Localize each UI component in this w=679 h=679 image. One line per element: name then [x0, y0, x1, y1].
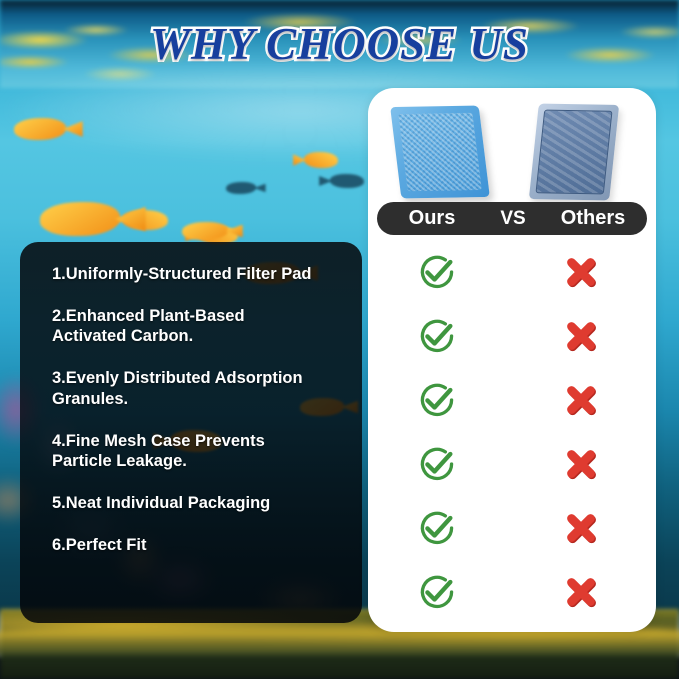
fish-icon — [330, 174, 364, 188]
comparison-row — [368, 304, 656, 368]
fish-icon — [226, 182, 256, 194]
feature-item: 5.Neat Individual Packaging — [52, 493, 346, 513]
feature-item: 6.Perfect Fit — [52, 535, 346, 555]
feature-item: 2.Enhanced Plant-Based Activated Carbon. — [52, 306, 267, 346]
feature-item: 1.Uniformly-Structured Filter Pad — [52, 264, 346, 284]
comparison-rows — [368, 240, 656, 624]
comparison-row — [368, 432, 656, 496]
title-banner: WHY CHOOSE US — [0, 0, 679, 88]
ours-cell — [368, 572, 506, 612]
comparison-row — [368, 560, 656, 624]
cross-icon — [562, 317, 600, 355]
comparison-row — [368, 496, 656, 560]
comparison-row — [368, 240, 656, 304]
feature-item: 4.Fine Mesh Case Prevents Particle Leaka… — [52, 431, 284, 471]
cross-icon — [562, 573, 600, 611]
cross-icon — [562, 381, 600, 419]
others-cell — [506, 317, 656, 355]
product-images — [368, 100, 656, 208]
cross-icon — [562, 253, 600, 291]
ours-cell — [368, 380, 506, 420]
ours-cell — [368, 508, 506, 548]
header-label-others: Others — [539, 207, 647, 230]
others-cell — [506, 573, 656, 611]
check-circle-icon — [417, 316, 457, 356]
cross-icon — [562, 445, 600, 483]
check-circle-icon — [417, 572, 457, 612]
fish-icon — [182, 222, 228, 240]
others-cell — [506, 253, 656, 291]
header-label-ours: Ours — [377, 207, 487, 230]
cross-icon — [562, 509, 600, 547]
comparison-card: Ours VS Others — [368, 88, 656, 632]
others-cell — [506, 509, 656, 547]
ours-cell — [368, 316, 506, 356]
check-circle-icon — [417, 508, 457, 548]
fish-icon — [40, 202, 120, 236]
ours-cell — [368, 252, 506, 292]
page-title: WHY CHOOSE US — [150, 18, 529, 70]
fish-icon — [14, 118, 66, 140]
others-cell — [506, 381, 656, 419]
check-circle-icon — [417, 252, 457, 292]
check-circle-icon — [417, 380, 457, 420]
ours-cell — [368, 444, 506, 484]
check-circle-icon — [417, 444, 457, 484]
others-product-image — [529, 104, 619, 201]
ours-product-image — [390, 106, 490, 199]
features-panel: 1.Uniformly-Structured Filter Pad 2.Enha… — [20, 242, 362, 623]
others-cell — [506, 445, 656, 483]
comparison-row — [368, 368, 656, 432]
comparison-header: Ours VS Others — [377, 202, 647, 235]
header-label-vs: VS — [487, 208, 539, 230]
fish-icon — [304, 152, 338, 168]
feature-item: 3.Evenly Distributed Adsorption Granules… — [52, 368, 324, 408]
